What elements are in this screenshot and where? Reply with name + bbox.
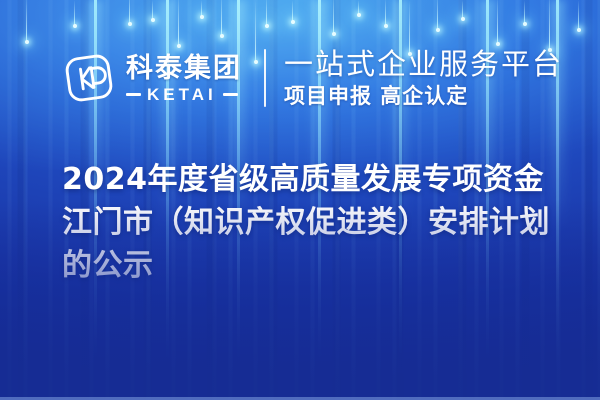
meteor-streak-icon bbox=[74, 0, 75, 26]
vertical-divider bbox=[264, 49, 266, 107]
brand-wordmark: 科泰集团 KETAI bbox=[126, 54, 242, 103]
meteor-streak-icon bbox=[292, 0, 293, 22]
meteor-streak-icon bbox=[358, 0, 359, 15]
banner-image: 科泰集团 KETAI 一站式企业服务平台 项目申报 高企认定 2024年度省级高… bbox=[0, 0, 600, 400]
brand-lockup: 科泰集团 KETAI bbox=[62, 51, 242, 105]
meteor-streak-icon bbox=[385, 0, 386, 26]
meteor-streak-icon bbox=[578, 0, 579, 30]
ketai-diamond-monogram-icon bbox=[62, 51, 116, 105]
dash-right-icon bbox=[223, 93, 238, 96]
meteor-streak-icon bbox=[221, 0, 222, 36]
meteor-streak-icon bbox=[201, 0, 202, 17]
meteor-streak-icon bbox=[129, 0, 130, 24]
brand-name-cn: 科泰集团 bbox=[126, 54, 242, 83]
meteor-streak-icon bbox=[524, 0, 525, 24]
meteor-streak-icon bbox=[266, 0, 267, 26]
meteor-streak-icon bbox=[497, 0, 498, 44]
dash-left-icon bbox=[126, 93, 141, 96]
meteor-streak-icon bbox=[152, 0, 153, 20]
meteor-streak-icon bbox=[333, 0, 334, 34]
meteor-streak-icon bbox=[462, 0, 463, 19]
banner-header-row: 科泰集团 KETAI 一站式企业服务平台 项目申报 高企认定 bbox=[0, 42, 600, 114]
meteor-streak-icon bbox=[437, 0, 438, 30]
brand-name-en-row: KETAI bbox=[126, 86, 242, 103]
tagline-block: 一站式企业服务平台 项目申报 高企认定 bbox=[284, 48, 563, 108]
tagline-secondary: 项目申报 高企认定 bbox=[284, 84, 563, 108]
tagline-primary: 一站式企业服务平台 bbox=[284, 48, 563, 80]
background-bottom-shade bbox=[0, 200, 600, 400]
meteor-streak-icon bbox=[26, 0, 27, 42]
meteor-streak-icon bbox=[178, 0, 179, 46]
brand-name-en: KETAI bbox=[147, 86, 217, 103]
